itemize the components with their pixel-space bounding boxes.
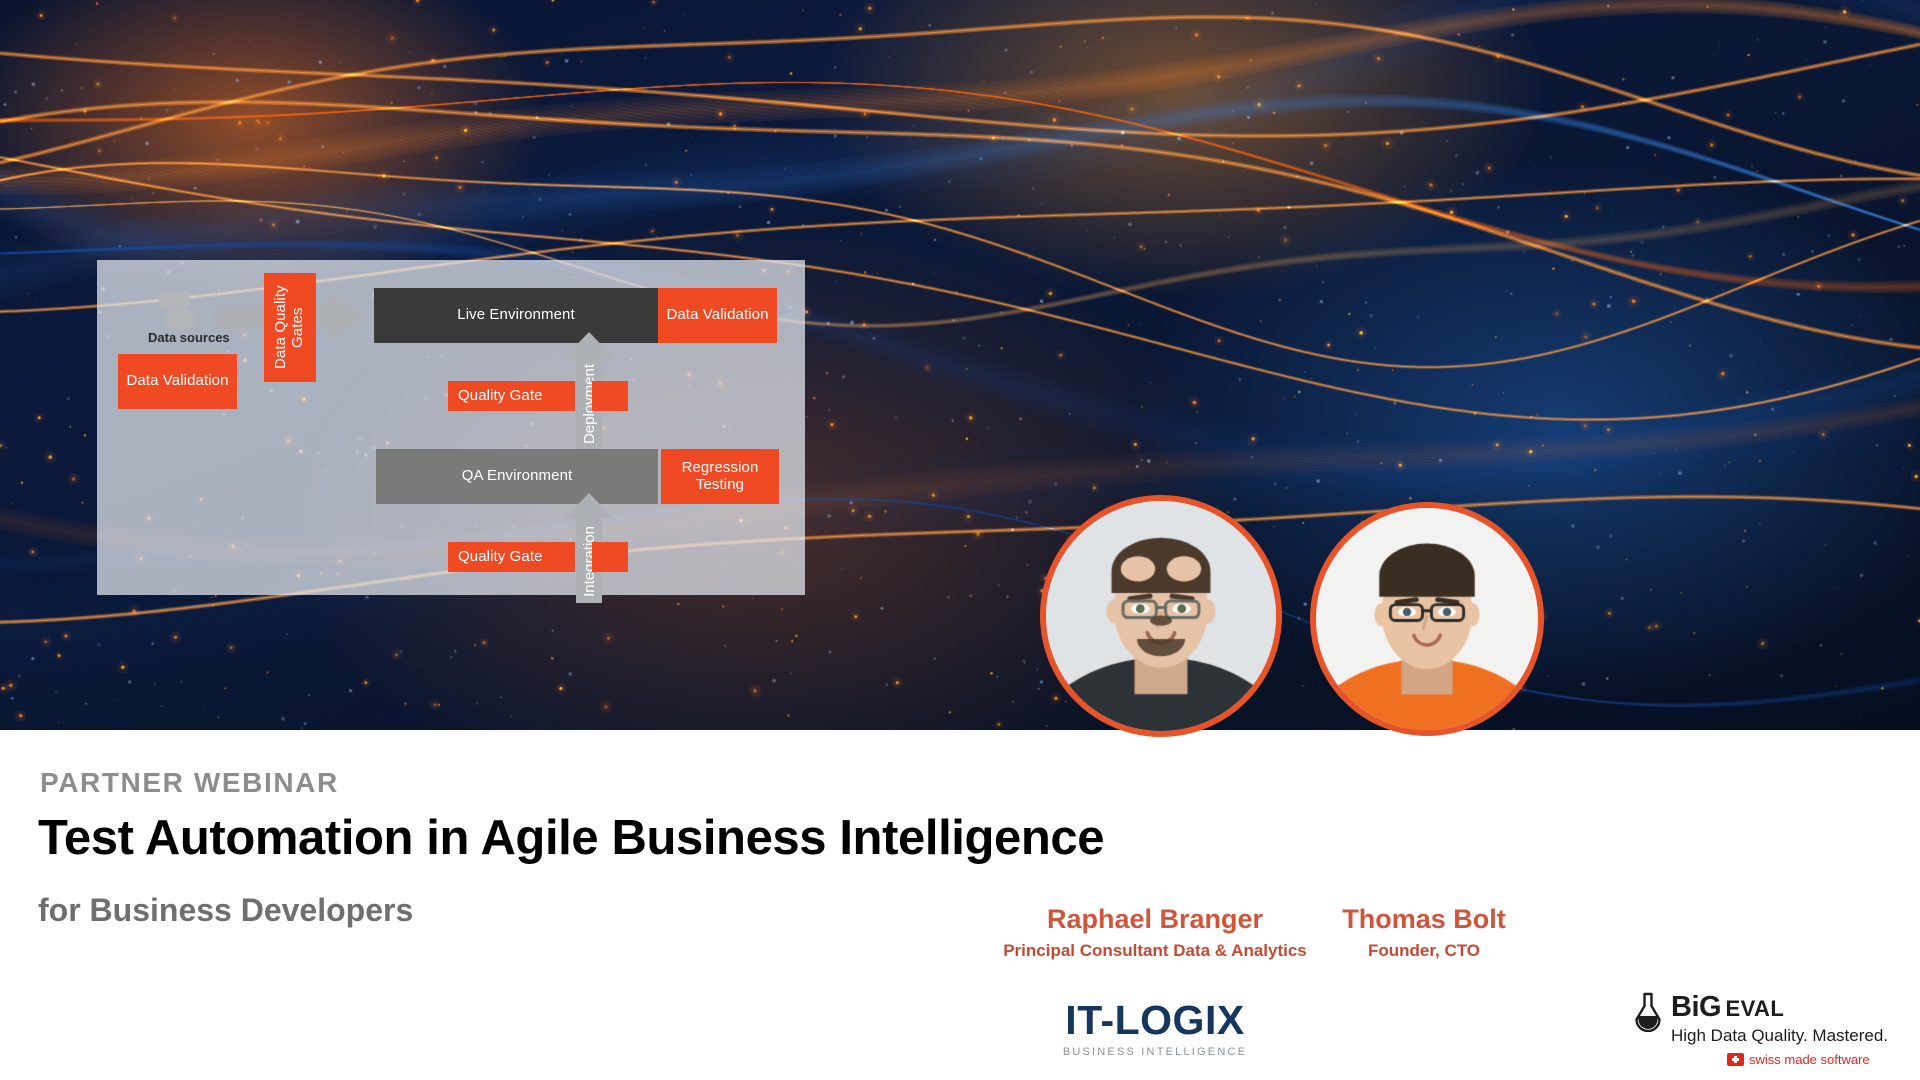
bigeval-tagline: High Data Quality. Mastered. [1671,1026,1888,1046]
webinar-slide: Data sources Data Quality Gates Data Val… [0,0,1920,1080]
swiss-made-badge: swiss made software [1727,1052,1870,1067]
box-data-quality-gates: Data Quality Gates [264,273,316,382]
box-regression-testing: Regression Testing [661,449,779,504]
itlogix-tagline: BUSINESS INTELLIGENCE [1057,1046,1253,1058]
avatar-raphael-branger [1040,495,1282,737]
logo-big-eval: BiG EVAL High Data Quality. Mastered. sw… [1631,992,1871,1026]
box-quality-gate-lower: Quality Gate [448,542,575,572]
speaker-role-0: Principal Consultant Data & Analytics [985,941,1325,961]
bi-pipeline-diagram: Data sources Data Quality Gates Data Val… [97,260,805,595]
box-quality-gate-upper-stub [592,381,628,411]
swiss-made-label: swiss made software [1749,1052,1870,1067]
logo-it-logix: IT-LOGIX BUSINESS INTELLIGENCE [1057,1000,1253,1058]
speaker-name-0: Raphael Branger [1000,904,1310,935]
page-title: Test Automation in Agile Business Intell… [38,810,1104,866]
speaker-name-1: Thomas Bolt [1300,904,1548,935]
box-data-validation-right: Data Validation [658,288,777,343]
bigeval-name-bold: BiG [1671,991,1721,1023]
swiss-flag-icon [1727,1053,1744,1066]
kicker-label: PARTNER WEBINAR [40,767,339,799]
box-qa-environment: QA Environment [376,449,658,504]
flask-icon [1631,992,1665,1037]
avatar-thomas-bolt [1310,502,1544,736]
speaker-role-1: Founder, CTO [1300,941,1548,961]
bigeval-name-light: EVAL [1726,996,1785,1021]
box-data-validation-left: Data Validation [118,354,237,409]
box-quality-gate-lower-stub [592,542,628,572]
box-quality-gate-upper: Quality Gate [448,381,575,411]
page-subtitle: for Business Developers [38,892,413,929]
itlogix-wordmark: IT-LOGIX [1057,1000,1253,1041]
box-live-environment: Live Environment [374,288,658,343]
